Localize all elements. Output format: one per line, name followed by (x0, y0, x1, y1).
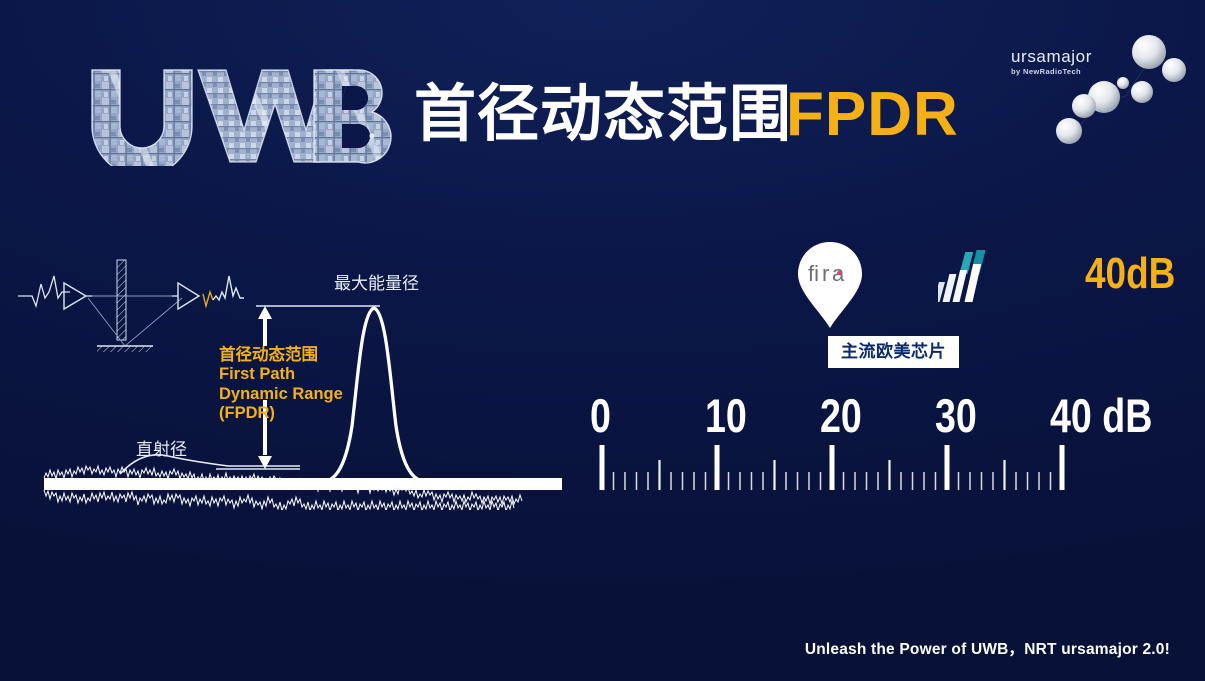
brand-logo: ursamajor by NewRadioTech (1001, 18, 1191, 163)
uwb-wordmark-logo (86, 66, 396, 166)
brand-subtitle: by NewRadioTech (1011, 68, 1092, 76)
tx-pulse-waveform-icon (18, 276, 70, 306)
ruler-tick-label: 0 (590, 392, 611, 439)
ruler-tick-label: 40 dB (1050, 392, 1152, 439)
svg-text:fi: fi (808, 261, 819, 286)
page-title-en: FPDR (786, 84, 959, 146)
brand-name: ursamajor (1011, 48, 1092, 65)
chip-vendor-bars-icon (938, 248, 996, 310)
db-scale-ruler: 010203040 dB (570, 360, 1180, 500)
fira-map-pin-icon: fi r a (795, 240, 865, 330)
rx-pulse-waveform-icon (203, 276, 244, 306)
double-headed-vertical-arrow-icon (258, 306, 272, 469)
slide-canvas: 首径动态范围 FPDR (0, 0, 1205, 681)
uwb-letter-b (308, 66, 396, 166)
header: 首径动态范围 FPDR (0, 0, 1205, 180)
headline-db-value: 40dB (1085, 252, 1175, 296)
footer-tagline: Unleash the Power of UWB，NRT ursamajor 2… (805, 637, 1170, 659)
ruler-tick-label: 30 (935, 392, 977, 439)
svg-text:r: r (822, 261, 829, 286)
hatched-wall-icon (117, 260, 126, 340)
ruler-tick-label: 10 (705, 392, 747, 439)
ruler-tick-label: 20 (820, 392, 862, 439)
chip-badge: 主流欧美芯片 (828, 336, 959, 368)
big-dipper-spheres-icon (1001, 18, 1191, 163)
page-title-cn: 首径动态范围 (414, 84, 792, 146)
antenna-triangle-icon (172, 283, 199, 309)
antenna-triangle-icon (64, 283, 92, 309)
gaussian-peak-curve-icon (321, 308, 428, 482)
brand-text-block: ursamajor by NewRadioTech (1011, 48, 1092, 76)
ray-paths (88, 296, 182, 346)
fpdr-diagram (0, 250, 580, 510)
uwb-letter-u (86, 66, 196, 166)
hatched-ground-reflector-icon (97, 346, 153, 352)
